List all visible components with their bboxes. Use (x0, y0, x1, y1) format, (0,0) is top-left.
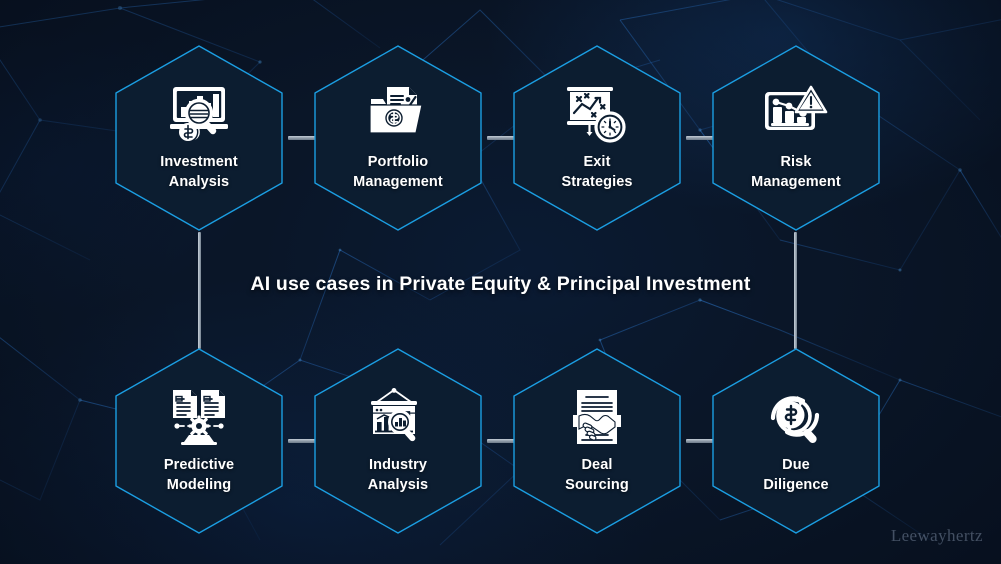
infographic-canvas: AI use cases in Private Equity & Princip… (0, 0, 1001, 564)
dollar-magnifier-refresh-icon (760, 386, 832, 448)
hex-label-due-diligence: Due Diligence (757, 456, 834, 495)
hex-node-deal-sourcing[interactable]: Deal Sourcing (510, 347, 684, 535)
hex-label-industry-analysis: Industry Analysis (362, 456, 434, 495)
presentation-trend-clock-icon (561, 83, 633, 145)
hanging-board-bars-magnifier-icon (362, 386, 434, 448)
hex-label-investment-analysis: Investment Analysis (154, 153, 244, 192)
hex-node-exit-strategies[interactable]: Exit Strategies (510, 44, 684, 232)
hex-node-portfolio-management[interactable]: Portfolio Management (311, 44, 485, 232)
declining-bar-chart-warning-icon (760, 83, 832, 145)
hex-node-due-diligence[interactable]: Due Diligence (709, 347, 883, 535)
hex-label-deal-sourcing: Deal Sourcing (559, 456, 635, 495)
hex-node-risk-management[interactable]: Risk Management (709, 44, 883, 232)
hex-label-exit-strategies: Exit Strategies (555, 153, 638, 192)
watermark-leewayhertz: Leewayhertz (891, 526, 983, 546)
handshake-contract-icon (561, 386, 633, 448)
hex-label-predictive-modeling: Predictive Modeling (158, 456, 240, 495)
hex-label-risk-management: Risk Management (745, 153, 847, 192)
chart-monitor-magnifier-dollar-icon (163, 83, 235, 145)
folder-document-percent-dollar-icon (362, 83, 434, 145)
hex-node-investment-analysis[interactable]: Investment Analysis (112, 44, 286, 232)
page-title: AI use cases in Private Equity & Princip… (0, 273, 1001, 296)
hex-node-predictive-modeling[interactable]: Predictive Modeling (112, 347, 286, 535)
hex-label-portfolio-management: Portfolio Management (347, 153, 449, 192)
documents-gear-laptop-icon (163, 386, 235, 448)
hex-node-industry-analysis[interactable]: Industry Analysis (311, 347, 485, 535)
